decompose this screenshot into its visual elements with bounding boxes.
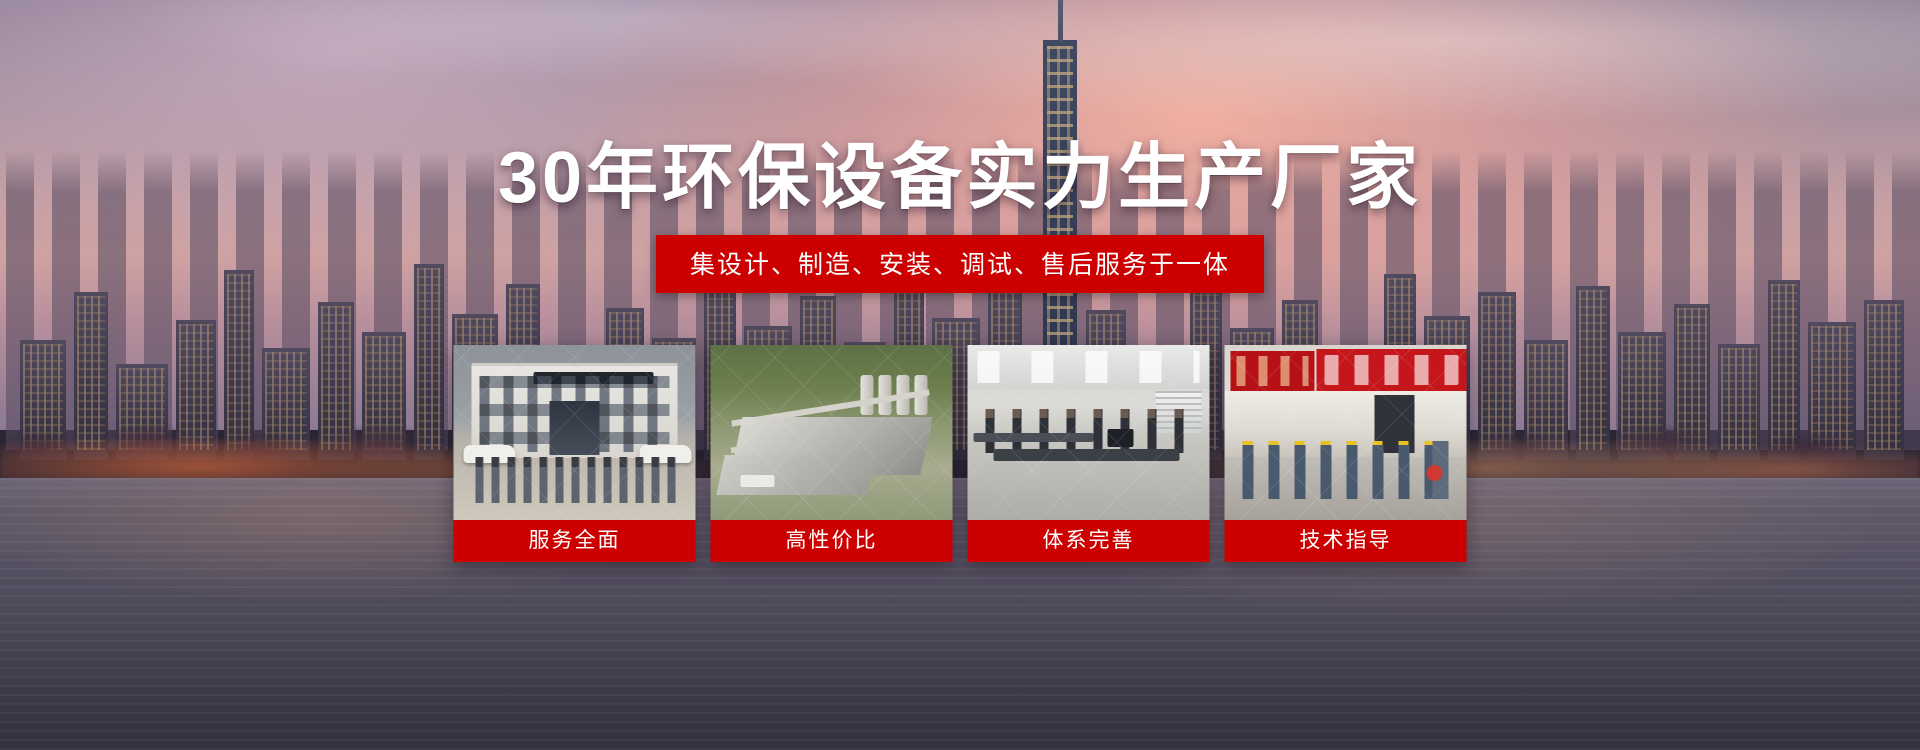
feature-card-image-value <box>711 345 953 520</box>
feature-card[interactable]: 服务全面 <box>454 345 696 562</box>
feature-card[interactable]: 技术指导 <box>1225 345 1467 562</box>
feature-card-caption: 体系完善 <box>968 520 1210 562</box>
feature-card[interactable]: 高性价比 <box>711 345 953 562</box>
feature-card-image-guidance <box>1225 345 1467 520</box>
page-title: 30年环保设备实力生产厂家 <box>0 118 1920 223</box>
feature-card-list: 服务全面 高性价比 体系完善 <box>454 345 1467 562</box>
feature-card-image-system <box>968 345 1210 520</box>
feature-card-caption: 高性价比 <box>711 520 953 562</box>
hero-banner: 30年环保设备实力生产厂家 集设计、制造、安装、调试、售后服务于一体 服务全面 <box>0 0 1920 750</box>
feature-card[interactable]: 体系完善 <box>968 345 1210 562</box>
subtitle-banner: 集设计、制造、安装、调试、售后服务于一体 <box>656 235 1264 293</box>
feature-card-caption: 服务全面 <box>454 520 696 562</box>
feature-card-caption: 技术指导 <box>1225 520 1467 562</box>
feature-card-image-service <box>454 345 696 520</box>
